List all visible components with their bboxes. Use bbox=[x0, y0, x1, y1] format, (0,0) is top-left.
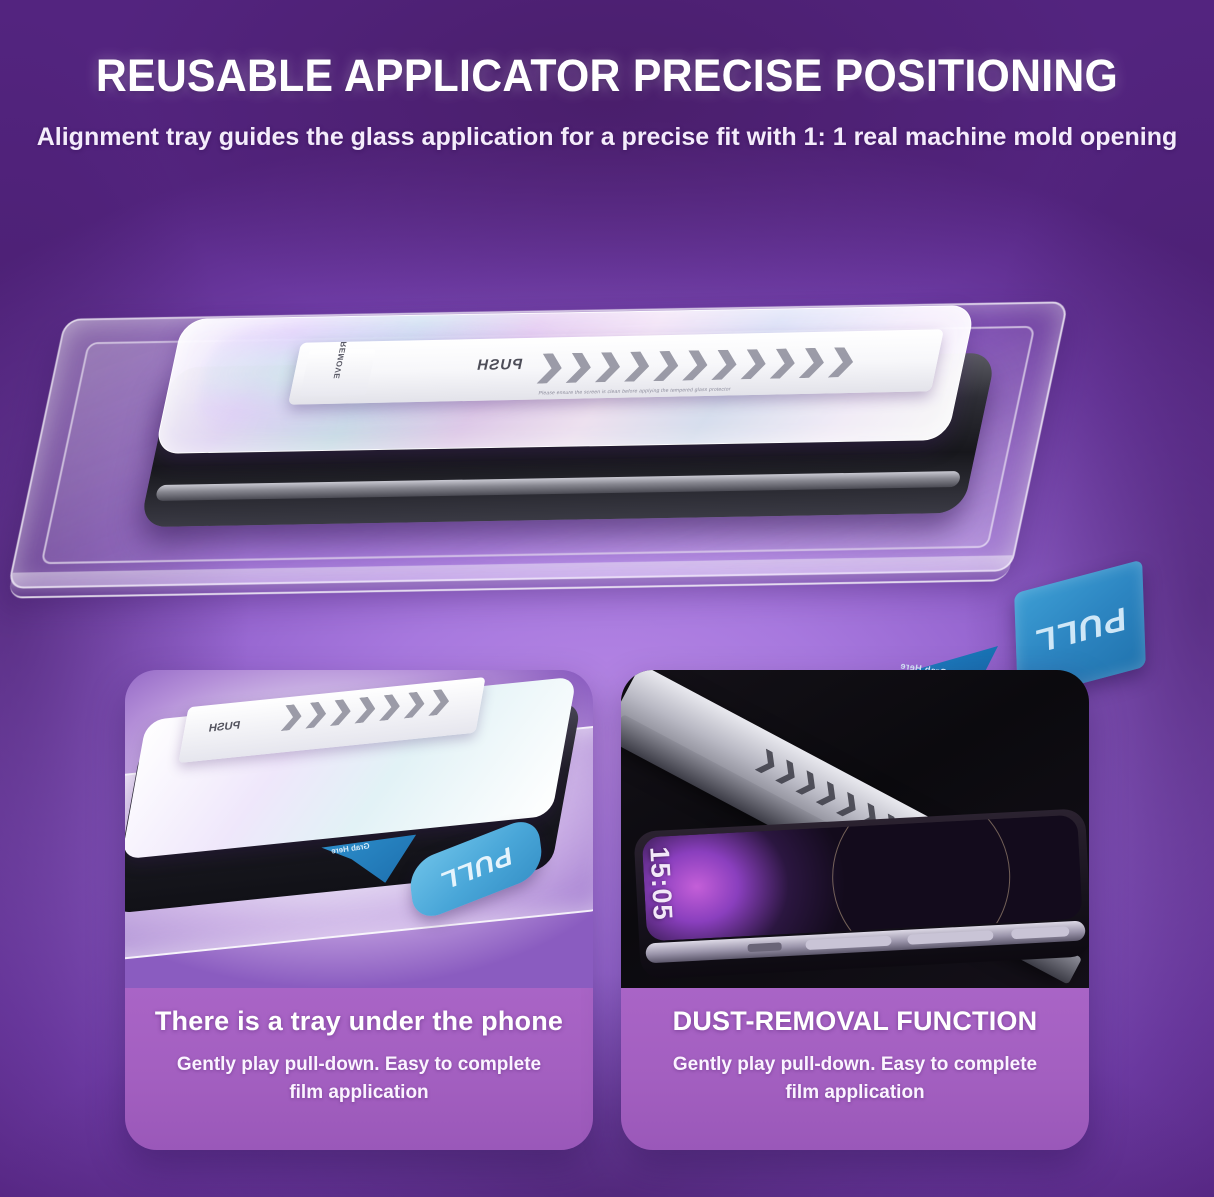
phone-clock-time: 15:05 bbox=[643, 846, 678, 922]
chevron-right-icon bbox=[799, 348, 827, 378]
chevron-right-icon bbox=[379, 693, 402, 721]
chevron-right-icon bbox=[537, 353, 565, 383]
chevron-right-icon bbox=[816, 781, 841, 810]
product-feature-page: REUSABLE APPLICATOR PRECISE POSITIONING … bbox=[0, 0, 1214, 1197]
card-applicator-push-label: PUSH bbox=[208, 720, 241, 735]
page-subtitle: Alignment tray guides the glass applicat… bbox=[0, 120, 1214, 156]
chevron-right-icon bbox=[828, 347, 856, 377]
chevron-right-icon bbox=[836, 792, 861, 821]
page-header: REUSABLE APPLICATOR PRECISE POSITIONING … bbox=[0, 50, 1214, 156]
card-phone-screen: 15:05 bbox=[642, 815, 1083, 942]
card-title: There is a tray under the phone bbox=[155, 1006, 563, 1037]
chevron-right-icon bbox=[354, 696, 377, 724]
chevron-right-icon bbox=[281, 703, 304, 731]
feature-card-dust-removal-image: 15:05 bbox=[621, 670, 1089, 988]
phone-side-rail bbox=[155, 471, 962, 501]
chevron-right-icon bbox=[330, 698, 353, 726]
chevron-right-icon bbox=[682, 350, 710, 380]
card-subtitle: Gently play pull-down. Easy to complete … bbox=[159, 1051, 559, 1106]
chevron-right-icon bbox=[566, 353, 594, 383]
feature-card-tray-image: PUSH Grab Here PULL bbox=[125, 670, 593, 988]
card-title: DUST-REMOVAL FUNCTION bbox=[673, 1006, 1038, 1037]
feature-card-list: PUSH Grab Here PULL bbox=[0, 670, 1214, 1160]
hero-product-image: REMOVE PUSH Please ensure the screen is … bbox=[0, 250, 1214, 640]
card-phone-device: 15:05 bbox=[633, 808, 1089, 979]
applicator-push-label: PUSH bbox=[475, 356, 524, 374]
feature-card-dust-removal-caption: DUST-REMOVAL FUNCTION Gently play pull-d… bbox=[621, 988, 1089, 1150]
wallpaper-ring-decoration bbox=[828, 815, 1015, 942]
chevron-right-icon bbox=[305, 701, 328, 729]
chevron-right-icon bbox=[755, 749, 780, 778]
feature-card-tray-caption: There is a tray under the phone Gently p… bbox=[125, 988, 593, 1150]
chevron-right-icon bbox=[595, 352, 623, 382]
feature-card-tray: PUSH Grab Here PULL bbox=[125, 670, 593, 1150]
chevron-right-icon bbox=[740, 349, 768, 379]
chevron-right-icon bbox=[775, 759, 800, 788]
chevron-right-icon bbox=[711, 349, 739, 379]
page-title: REUSABLE APPLICATOR PRECISE POSITIONING bbox=[30, 50, 1183, 102]
chevron-right-icon bbox=[404, 691, 427, 719]
chevron-arrow-icon-group bbox=[535, 340, 932, 390]
chevron-right-icon bbox=[624, 351, 652, 381]
card-chevron-arrow-icon-group bbox=[281, 688, 452, 731]
chevron-right-icon bbox=[795, 770, 820, 799]
feature-card-dust-removal: 15:05 DUST-REMOVAL FUNCTION Gently play … bbox=[621, 670, 1089, 1150]
card-subtitle: Gently play pull-down. Easy to complete … bbox=[655, 1051, 1055, 1106]
chevron-right-icon bbox=[653, 351, 681, 381]
chevron-right-icon bbox=[770, 348, 798, 378]
applicator-side-tab: REMOVE bbox=[300, 349, 376, 396]
chevron-right-icon bbox=[428, 688, 451, 716]
